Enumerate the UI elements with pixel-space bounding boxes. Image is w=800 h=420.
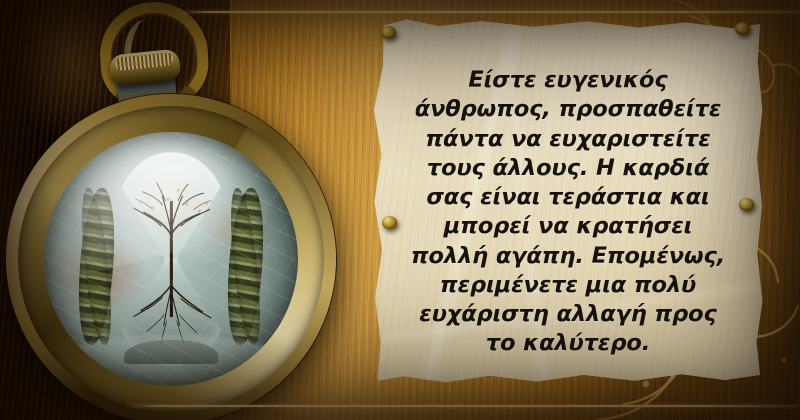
quote-text: Είστε ευγενικόςάνθρωπος, προσπαθείτεπάντ… — [398, 66, 738, 359]
quote-line: Είστε ευγενικός — [468, 67, 667, 93]
pin-mid-left — [382, 216, 397, 229]
watch-glass — [44, 132, 298, 386]
quote-line: περιμένετε μια πολύ — [440, 272, 696, 298]
glass-etchings — [44, 132, 298, 386]
quote-line: πάντα να ευχαριστείτε — [425, 126, 710, 152]
gold-rule-bottom — [128, 405, 800, 407]
watch-bezel — [18, 106, 324, 412]
paper-note: Είστε ευγενικόςάνθρωπος, προσπαθείτεπάντ… — [372, 18, 764, 386]
pin-top-right — [735, 22, 750, 35]
quote-line: μπορεί να κρατήσει — [444, 213, 693, 239]
pocket-watch — [0, 60, 352, 420]
pin-top-left — [381, 26, 396, 39]
quote-line: άνθρωπος, προσπαθείτε — [415, 96, 722, 122]
gold-rule-top — [178, 11, 800, 13]
quote-line: πολλή αγάπη. Επομένως, — [411, 243, 725, 269]
quote-line: ευχάριστη αλλαγή προς — [419, 301, 716, 327]
watch-case — [6, 94, 336, 420]
quote-line: τους άλλους. Η καρδιά — [427, 155, 709, 181]
quote-line: σας είναι τεράστια και — [426, 184, 709, 210]
image-canvas: Είστε ευγενικόςάνθρωπος, προσπαθείτεπάντ… — [0, 0, 800, 420]
quote-line: το καλύτερο. — [486, 330, 650, 356]
pin-mid-right — [739, 198, 754, 211]
